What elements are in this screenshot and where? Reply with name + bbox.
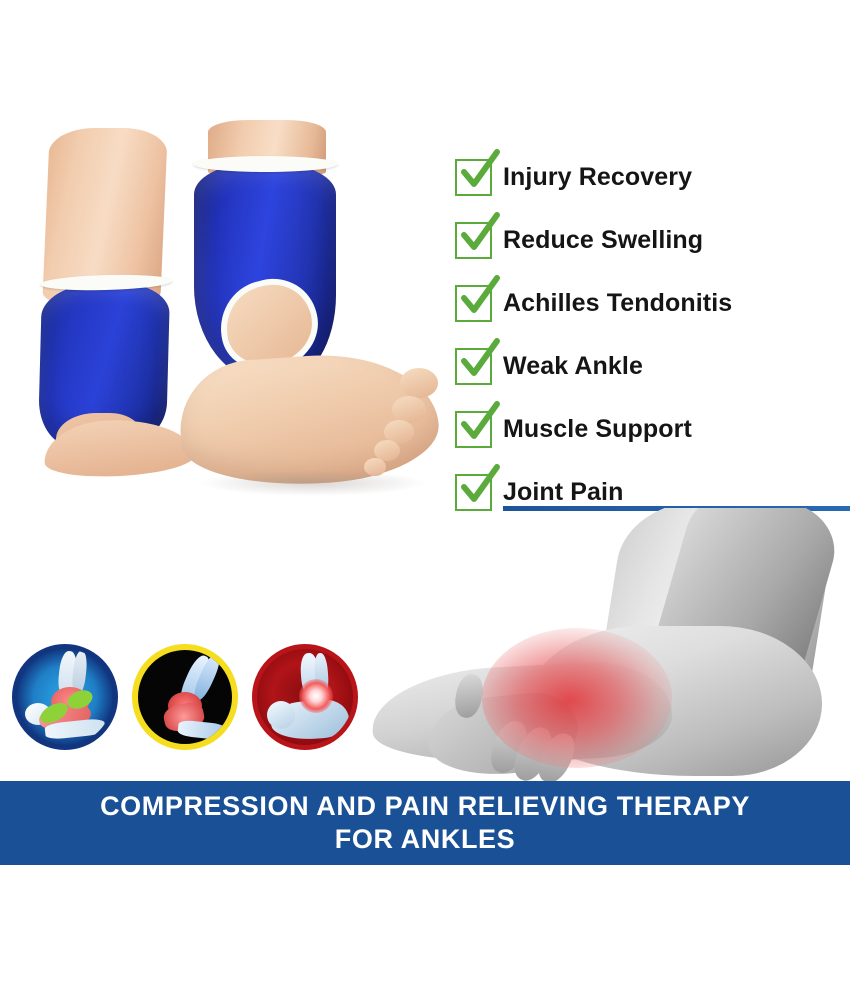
toe-bones	[177, 720, 226, 741]
check-square-icon	[455, 411, 492, 448]
pain-highlight	[482, 628, 672, 768]
check-square-icon	[455, 474, 492, 511]
benefits-checklist: Injury Recovery Reduce Swelling Achilles…	[455, 146, 845, 524]
pain-photo-ankle-injury	[372, 508, 850, 781]
benefit-label: Weak Ankle	[503, 352, 643, 381]
list-item: Injury Recovery	[455, 146, 845, 209]
list-item: Achilles Tendonitis	[455, 272, 845, 335]
left-leg	[38, 128, 168, 428]
benefit-label: Muscle Support	[503, 415, 692, 444]
ankle-xray-red-badge	[252, 644, 358, 750]
right-leg	[186, 120, 436, 560]
ankle-xray-yellow-badge	[132, 644, 238, 750]
toe	[400, 368, 438, 398]
benefit-label: Injury Recovery	[503, 163, 692, 192]
benefit-label: Achilles Tendonitis	[503, 289, 732, 318]
check-square-icon	[455, 348, 492, 385]
check-square-icon	[455, 285, 492, 322]
bottom-banner: COMPRESSION AND PAIN RELIEVING THERAPY F…	[0, 781, 850, 865]
check-square-icon	[455, 222, 492, 259]
advertisement-canvas: Injury Recovery Reduce Swelling Achilles…	[0, 0, 850, 995]
toe	[392, 396, 426, 423]
list-item: Reduce Swelling	[455, 209, 845, 272]
ankle-anatomy-blue-badge	[12, 644, 118, 750]
banner-headline-line1: COMPRESSION AND PAIN RELIEVING THERAPY	[100, 790, 750, 823]
banner-headline-line2: FOR ANKLES	[335, 823, 516, 856]
list-item: Weak Ankle	[455, 335, 845, 398]
benefit-label: Joint Pain	[503, 478, 623, 507]
list-item: Muscle Support	[455, 398, 845, 461]
check-square-icon	[455, 159, 492, 196]
pain-flare	[299, 679, 333, 713]
benefit-label: Reduce Swelling	[503, 226, 703, 255]
foot-shadow	[198, 470, 428, 496]
heel-bone	[267, 701, 295, 729]
product-photo-ankle-sleeves	[8, 128, 438, 553]
